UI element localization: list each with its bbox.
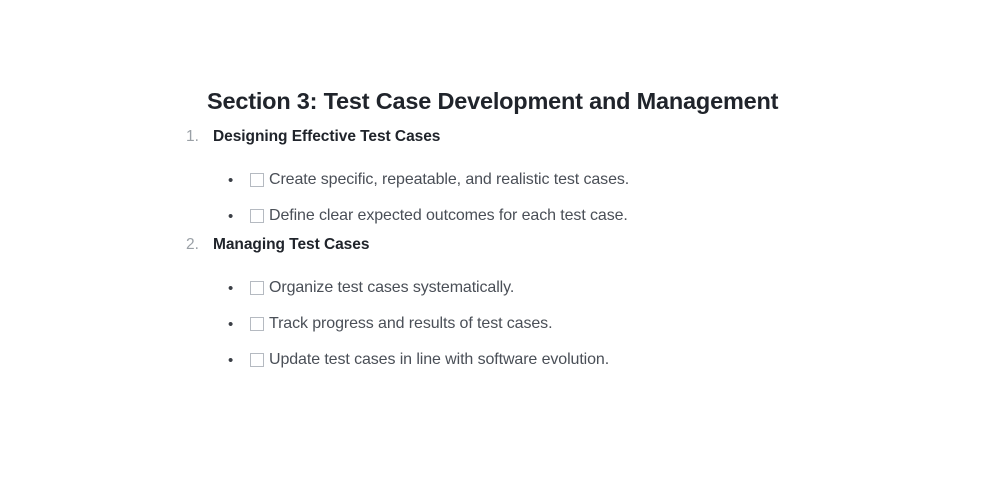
checklist-item-label: Update test cases in line with software … [269,349,609,371]
topic-heading: Managing Test Cases [213,234,369,256]
checkbox-unchecked-icon[interactable] [250,317,264,331]
checklist: Organize test cases systematically. Trac… [186,270,886,378]
bullet-icon [228,209,250,224]
document-page: Section 3: Test Case Development and Man… [0,0,1000,488]
checkbox-unchecked-icon[interactable] [250,353,264,367]
page-title: Section 3: Test Case Development and Man… [207,86,886,117]
checklist-item[interactable]: Organize test cases systematically. [186,270,886,306]
bullet-icon [228,281,250,296]
checklist-item[interactable]: Update test cases in line with software … [186,342,886,378]
checklist-item[interactable]: Track progress and results of test cases… [186,306,886,342]
bullet-icon [228,173,250,188]
checkbox-unchecked-icon[interactable] [250,173,264,187]
outline-item: 2. Managing Test Cases Organize test cas… [186,234,886,378]
checklist-item-label: Track progress and results of test cases… [269,313,552,335]
document-body: Section 3: Test Case Development and Man… [186,86,886,378]
topic-row: 2. Managing Test Cases [186,234,886,270]
checklist-item-label: Create specific, repeatable, and realist… [269,169,629,191]
checklist-item[interactable]: Create specific, repeatable, and realist… [186,162,886,198]
bullet-icon [228,353,250,368]
checklist-item-label: Organize test cases systematically. [269,277,514,299]
list-number-marker: 2. [186,234,213,256]
bullet-icon [228,317,250,332]
checklist: Create specific, repeatable, and realist… [186,162,886,234]
list-number-marker: 1. [186,126,213,148]
outline-list: 1. Designing Effective Test Cases Create… [186,126,886,378]
checkbox-unchecked-icon[interactable] [250,281,264,295]
checklist-item[interactable]: Define clear expected outcomes for each … [186,198,886,234]
topic-heading: Designing Effective Test Cases [213,126,440,148]
outline-item: 1. Designing Effective Test Cases Create… [186,126,886,234]
topic-row: 1. Designing Effective Test Cases [186,126,886,162]
checklist-item-label: Define clear expected outcomes for each … [269,205,628,227]
checkbox-unchecked-icon[interactable] [250,209,264,223]
